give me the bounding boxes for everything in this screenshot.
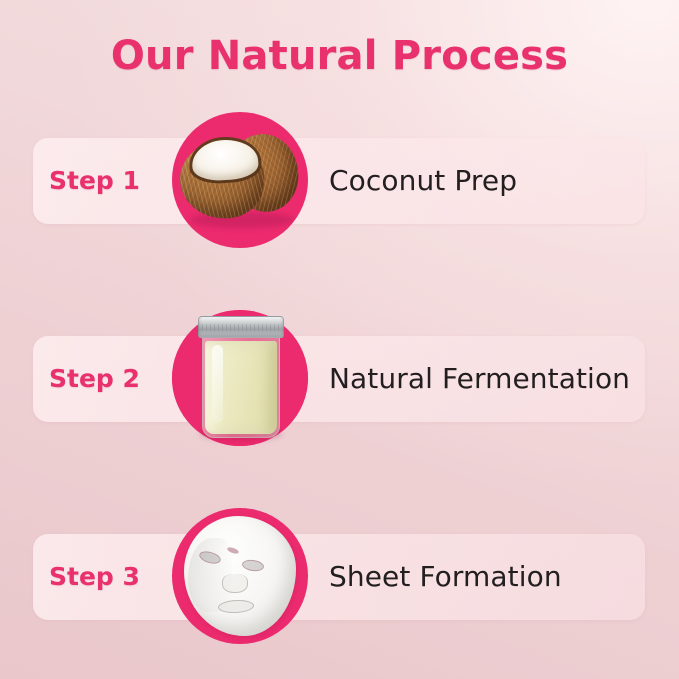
step-label-3: Step 3 (49, 562, 169, 592)
step-text-3: Sheet Formation (329, 560, 562, 594)
step-text-1: Coconut Prep (329, 164, 517, 198)
step-row-3: Step 3 Sheet Formation (0, 504, 679, 650)
step-text-2: Natural Fermentation (329, 362, 630, 396)
step-label-1: Step 1 (49, 166, 169, 196)
page-title: Our Natural Process (0, 33, 679, 79)
steps-list: Step 1 Coconut Prep S (0, 108, 679, 650)
step-row-1: Step 1 Coconut Prep (0, 108, 679, 254)
step-row-2: Step 2 Natural Fermentation (0, 306, 679, 452)
sheet-mask-icon (172, 508, 308, 644)
coconut-icon (172, 112, 308, 248)
process-infographic: Our Natural Process Step 1 Coconut Prep (0, 0, 679, 679)
fermentation-jar-icon (172, 310, 308, 446)
step-label-2: Step 2 (49, 364, 169, 394)
